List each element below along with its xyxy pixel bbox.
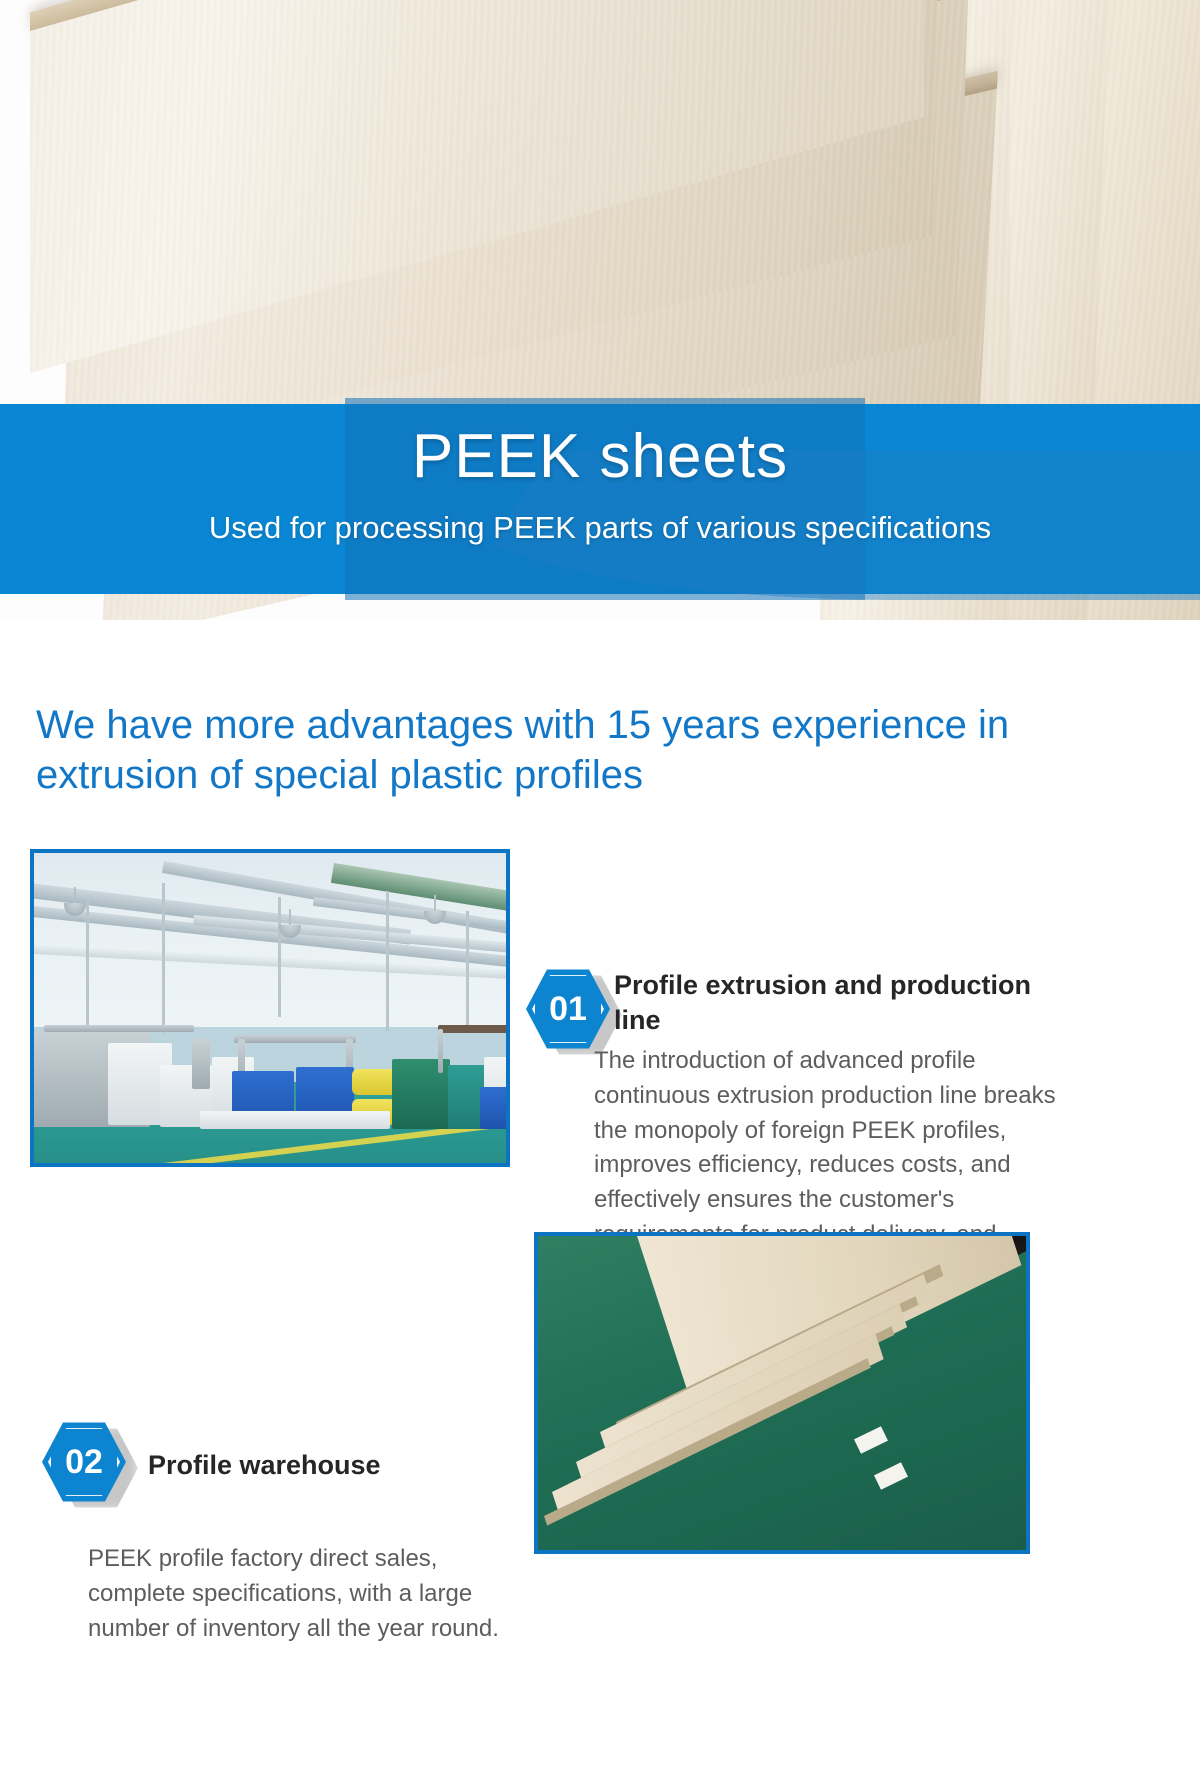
crane-arm — [438, 1025, 510, 1033]
feature-01-image — [30, 849, 510, 1167]
machine-blue-right — [480, 1087, 510, 1129]
wall-pipe — [278, 897, 281, 1017]
page-lead-heading: We have more advantages with 15 years ex… — [36, 700, 1066, 801]
crane-post — [438, 1029, 443, 1073]
machine-rails — [44, 1025, 194, 1032]
feature-02-image — [534, 1232, 1030, 1554]
crane-post — [508, 1029, 510, 1073]
feature-number: 01 — [549, 990, 587, 1029]
feature-02-body: PEEK profile factory direct sales, compl… — [88, 1542, 530, 1646]
wall-pipe — [162, 883, 165, 1033]
machine-pallet — [200, 1111, 390, 1129]
machine-column — [192, 1039, 210, 1089]
wall-pipe — [386, 891, 389, 1031]
feature-number: 02 — [65, 1443, 103, 1482]
banner-subtitle: Used for processing PEEK parts of variou… — [0, 488, 1200, 546]
machine-gantry — [234, 1035, 356, 1043]
wall-pipe — [86, 901, 89, 1031]
yellow-roller-top — [352, 1069, 396, 1095]
feature-01-title: Profile extrusion and production line — [614, 968, 1062, 1038]
wall-pipe — [466, 911, 469, 1031]
banner-title: PEEK sheets — [0, 404, 1200, 488]
feature-02-title: Profile warehouse — [148, 1448, 528, 1483]
feature-02-badge: 02 — [42, 1420, 130, 1504]
feature-01-badge: 01 — [526, 967, 614, 1051]
hero-banner: PEEK sheets Used for processing PEEK par… — [0, 404, 1200, 594]
